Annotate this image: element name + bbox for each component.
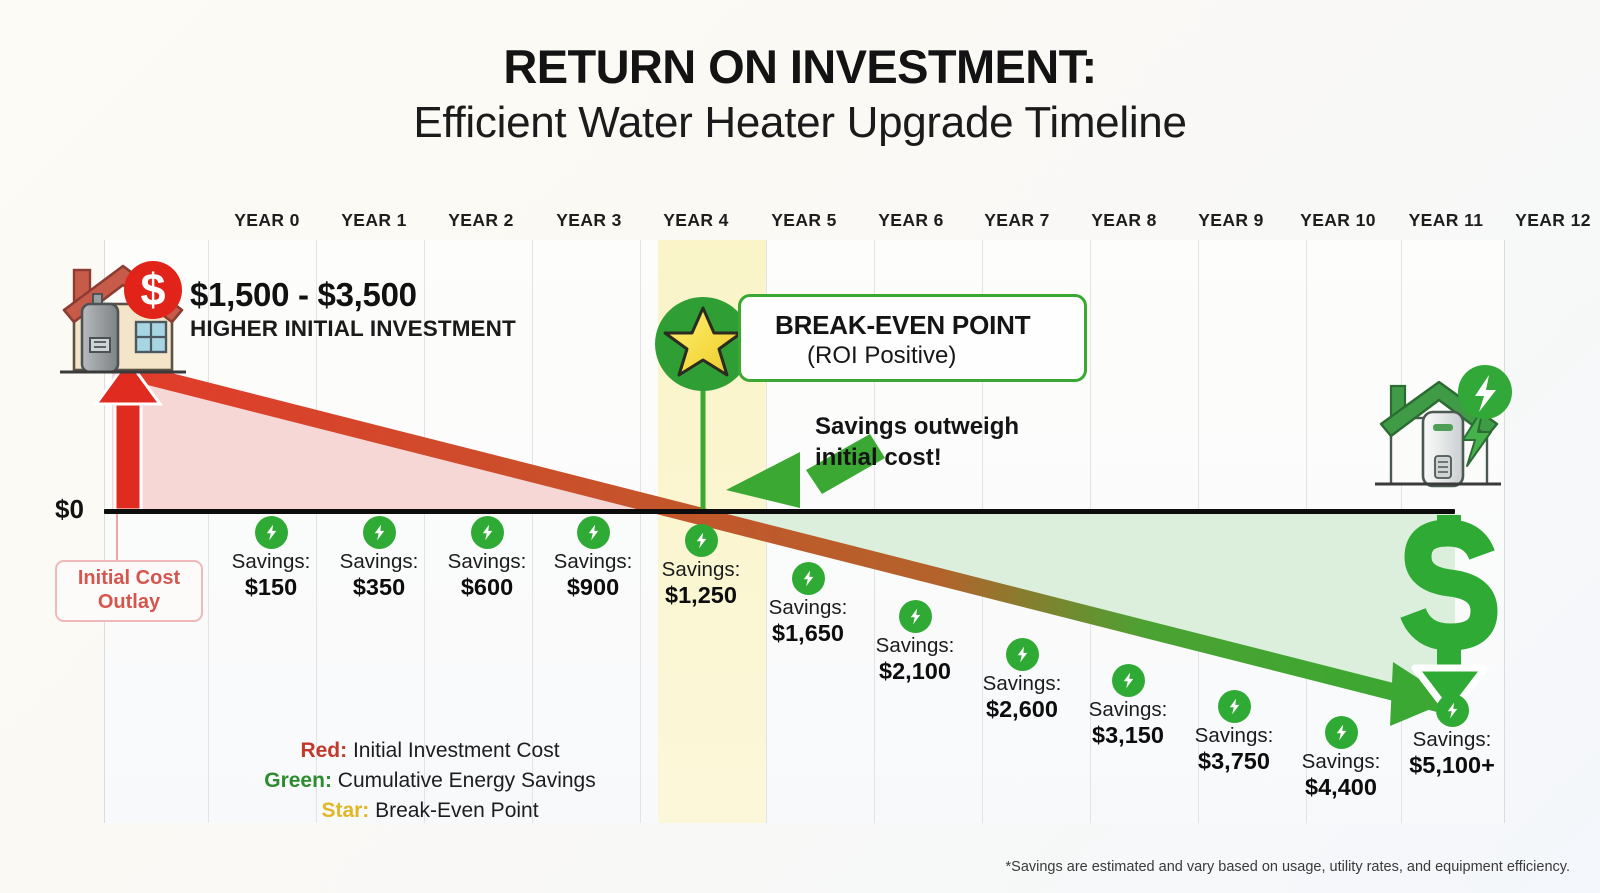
energy-bolt-icon [471,516,504,549]
energy-bolt-icon [685,524,718,557]
savings-prefix: Savings: [319,551,439,574]
savings-label-year-9: Savings:$3,150 [1068,664,1188,749]
savings-value: $3,150 [1068,722,1188,749]
savings-value: $2,600 [962,696,1082,723]
savings-label-year-1: Savings:$150 [211,516,331,601]
savings-value: $900 [533,574,653,601]
legend-key-green: Green: [264,769,332,792]
savings-outweigh-line-1: Savings outweigh [815,412,1115,443]
year-label-3: YEAR 3 [534,210,644,231]
savings-value: $350 [319,574,439,601]
legend-text-red: Initial Investment Cost [347,739,559,762]
breakeven-subtitle: (ROI Positive) [807,342,956,370]
year-label-4: YEAR 4 [641,210,751,231]
year-label-10: YEAR 10 [1279,210,1397,231]
year-label-5: YEAR 5 [749,210,859,231]
energy-bolt-icon [577,516,610,549]
savings-label-year-4: Savings:$900 [533,516,653,601]
year-label-7: YEAR 7 [962,210,1072,231]
year-label-1: YEAR 1 [319,210,429,231]
savings-prefix: Savings: [962,673,1082,696]
initial-investment-amount: $1,500 - $3,500 [190,278,610,313]
savings-value: $1,650 [748,620,868,647]
breakeven-title: BREAK-EVEN POINT [775,310,1030,341]
savings-value: $4,400 [1281,774,1401,801]
savings-value: $1,250 [641,582,761,609]
savings-value: $3,750 [1174,748,1294,775]
savings-value: $5,100+ [1392,752,1512,779]
year-label-12: YEAR 12 [1494,210,1600,231]
savings-label-year-3: Savings:$600 [427,516,547,601]
savings-label-year-11: Savings:$4,400 [1281,716,1401,801]
title-main: RETURN ON INVESTMENT: [0,42,1600,91]
legend-text-star: Break-Even Point [369,799,538,822]
legend-row-green: Green: Cumulative Energy Savings [240,766,620,796]
savings-prefix: Savings: [1392,729,1512,752]
savings-label-year-7: Savings:$2,100 [855,600,975,685]
savings-prefix: Savings: [1174,725,1294,748]
zero-axis-line [104,509,1455,514]
energy-bolt-icon [1006,638,1039,671]
energy-bolt-icon [363,516,396,549]
page-title: RETURN ON INVESTMENT: Efficient Water He… [0,42,1600,149]
savings-prefix: Savings: [1068,699,1188,722]
savings-prefix: Savings: [427,551,547,574]
savings-prefix: Savings: [748,597,868,620]
outlay-line-2: Outlay [78,591,180,615]
savings-label-year-6: Savings:$1,650 [748,562,868,647]
energy-bolt-icon [792,562,825,595]
legend-row-red: Red: Initial Investment Cost [240,736,620,766]
initial-investment-callout: $1,500 - $3,500 HIGHER INITIAL INVESTMEN… [190,278,610,342]
energy-bolt-icon [1436,694,1469,727]
savings-label-year-12: Savings:$5,100+ [1392,694,1512,779]
legend-key-star: Star: [321,799,369,822]
savings-prefix: Savings: [1281,751,1401,774]
outlay-line-1: Initial Cost [78,567,180,591]
initial-cost-outlay-box: Initial Cost Outlay [55,560,203,622]
savings-value: $2,100 [855,658,975,685]
year-label-8: YEAR 8 [1069,210,1179,231]
energy-bolt-icon [1112,664,1145,697]
savings-value: $150 [211,574,331,601]
year-label-9: YEAR 9 [1176,210,1286,231]
year-label-11: YEAR 11 [1387,210,1505,231]
savings-prefix: Savings: [211,551,331,574]
year-label-6: YEAR 6 [856,210,966,231]
breakeven-callout-box: BREAK-EVEN POINT (ROI Positive) [738,294,1087,382]
initial-cost-outlay-text: Initial Cost Outlay [78,567,180,614]
energy-bolt-icon [255,516,288,549]
savings-prefix: Savings: [533,551,653,574]
year-label-2: YEAR 2 [426,210,536,231]
year-axis-labels: YEAR 0 YEAR 1 YEAR 2 YEAR 3 YEAR 4 YEAR … [104,210,1505,240]
energy-bolt-icon [899,600,932,633]
infographic-canvas: RETURN ON INVESTMENT: Efficient Water He… [0,0,1600,893]
chart-legend: Red: Initial Investment Cost Green: Cumu… [240,736,620,826]
savings-label-year-8: Savings:$2,600 [962,638,1082,723]
zero-axis-label: $0 [55,494,84,525]
title-subtitle: Efficient Water Heater Upgrade Timeline [0,97,1600,149]
savings-value: $600 [427,574,547,601]
year-label-0: YEAR 0 [212,210,322,231]
savings-outweigh-note: Savings outweigh initial cost! [815,412,1115,473]
energy-bolt-icon [1218,690,1251,723]
savings-prefix: Savings: [855,635,975,658]
legend-text-green: Cumulative Energy Savings [332,769,596,792]
legend-key-red: Red: [300,739,347,762]
savings-label-year-5: Savings:$1,250 [641,524,761,609]
legend-row-star: Star: Break-Even Point [240,796,620,826]
savings-outweigh-line-2: initial cost! [815,443,1115,474]
savings-label-year-2: Savings:$350 [319,516,439,601]
footnote: *Savings are estimated and vary based on… [1006,859,1571,875]
savings-prefix: Savings: [641,559,761,582]
initial-investment-caption: HIGHER INITIAL INVESTMENT [190,316,610,342]
energy-bolt-icon [1325,716,1358,749]
savings-label-year-10: Savings:$3,750 [1174,690,1294,775]
